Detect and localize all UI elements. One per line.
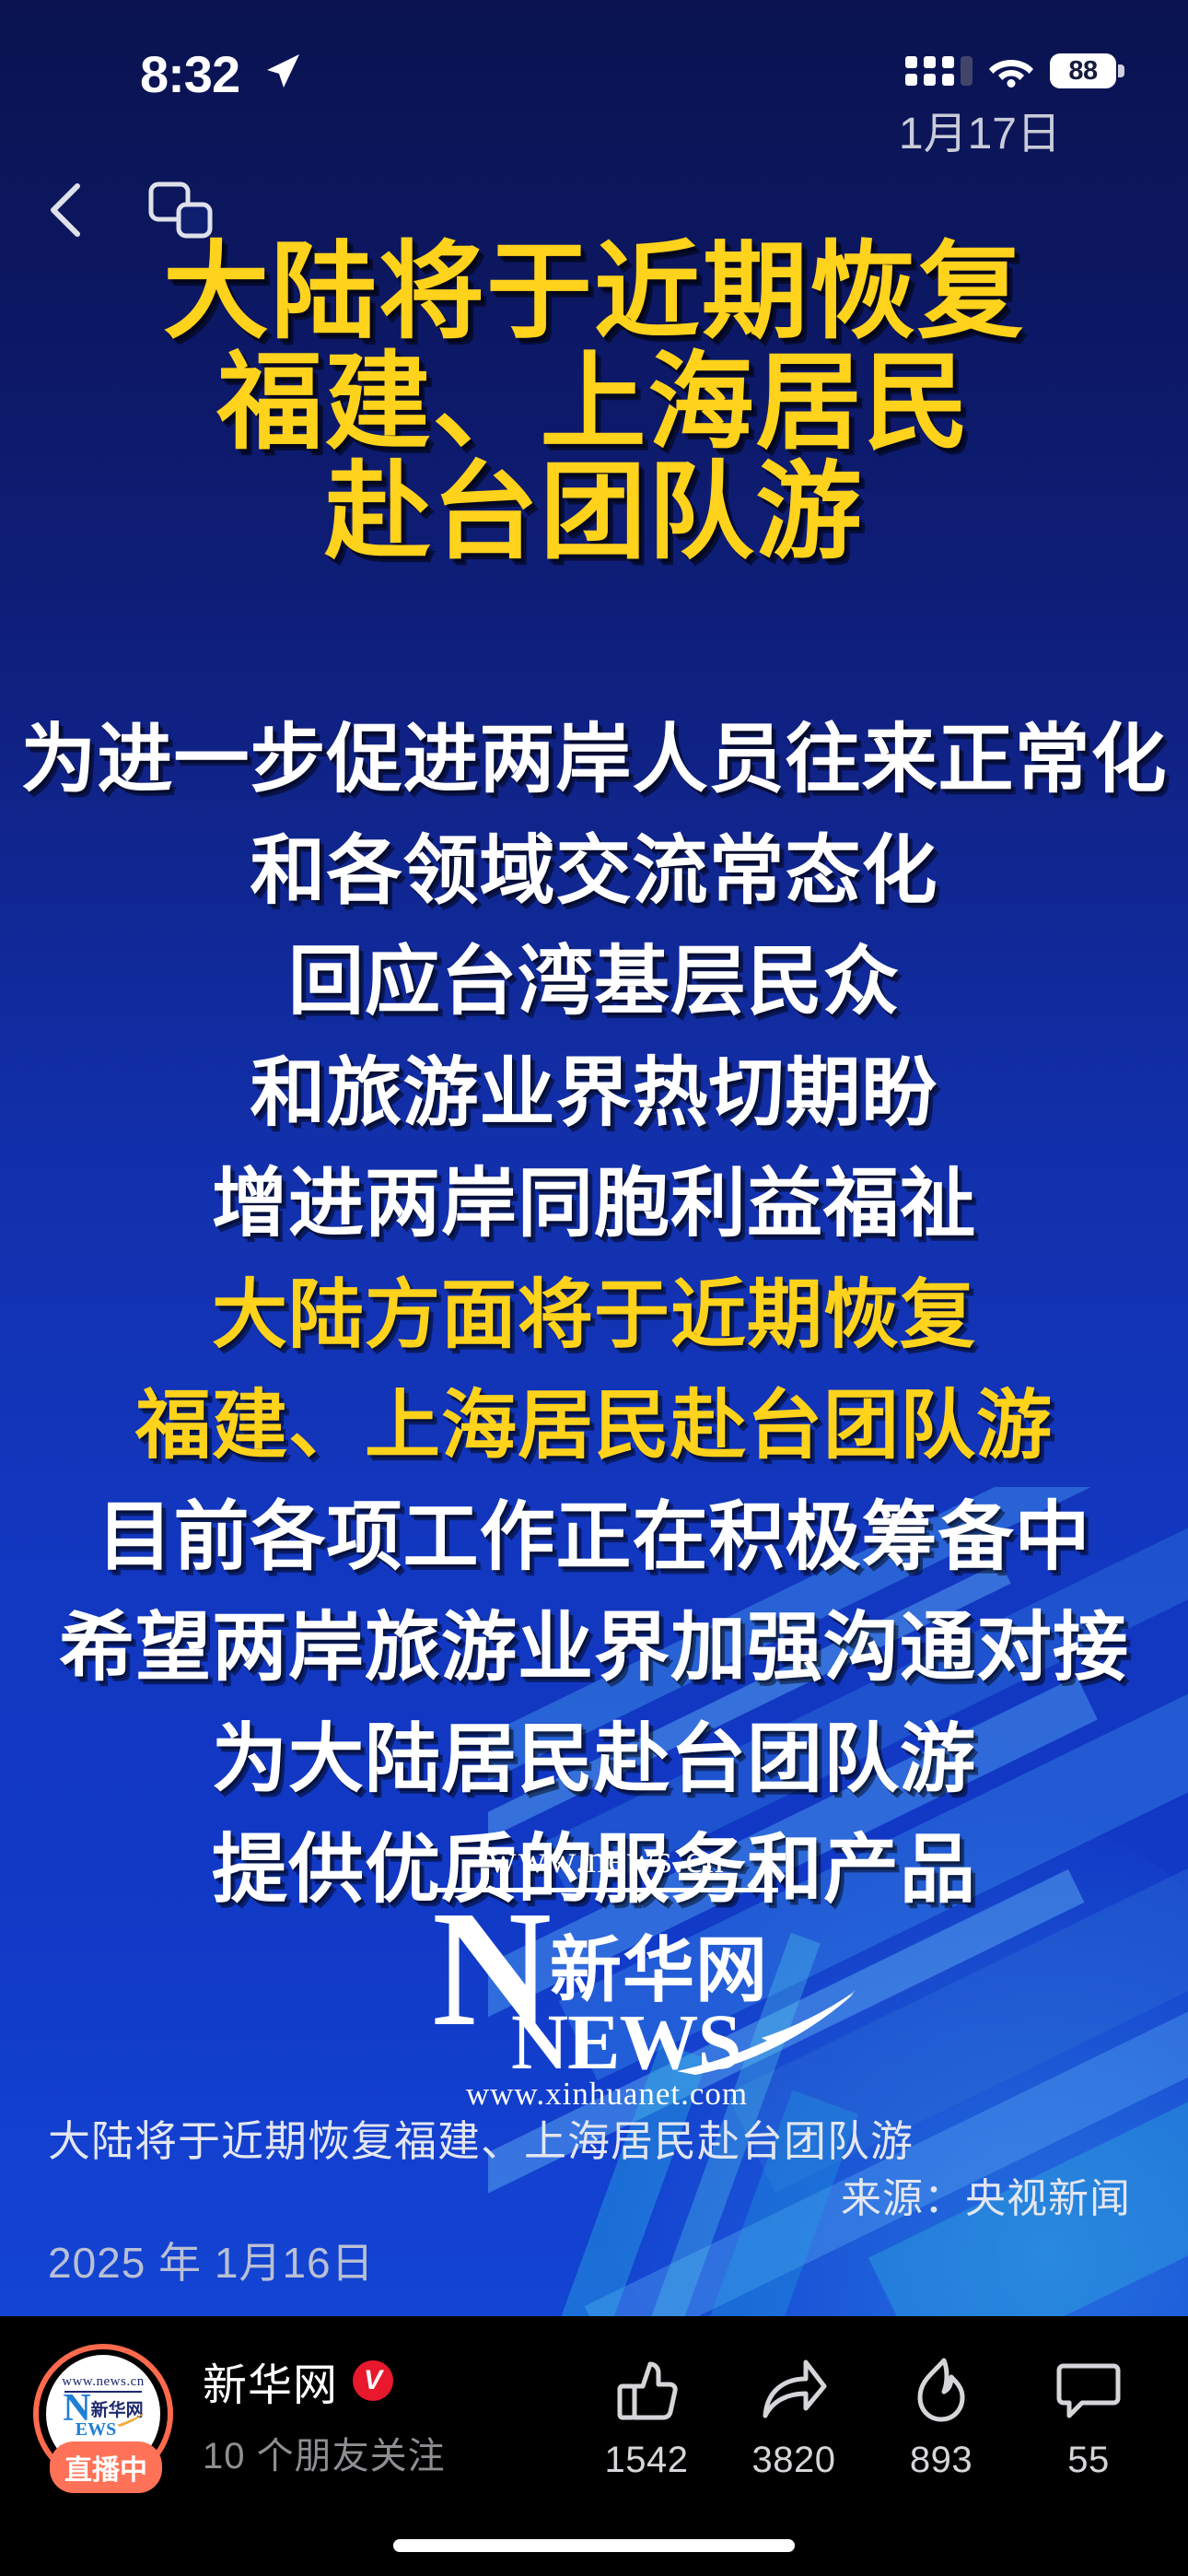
date-watermark: 1月17日	[899, 97, 1061, 161]
poster-caption-date: 2025 年 1月16日	[48, 2230, 375, 2290]
status-bar: 8:32 88 1月17日	[0, 0, 1188, 138]
poster-caption-title: 大陆将于近期恢复福建、上海居民赴台团队游	[48, 2108, 1061, 2169]
body-line: 回应台湾基层民众	[0, 927, 1188, 1038]
account-name-row: 新华网 V	[203, 2348, 446, 2413]
flame-icon	[905, 2355, 977, 2427]
avatar-letter: N	[63, 2394, 90, 2425]
status-bar-indicators: 88	[905, 53, 1116, 88]
xinhua-logo-mark: N 新华网 NEWS	[432, 1900, 778, 2070]
body-line: 福建、上海居民赴台团队游	[0, 1371, 1188, 1482]
wifi-icon	[989, 54, 1033, 88]
like-count: 1542	[605, 2440, 689, 2481]
xinhua-logo: www.news.cn N 新华网 NEWS www.xinhuanet.com	[410, 1838, 778, 2113]
body-line: 增进两岸同胞利益福祉	[0, 1149, 1188, 1260]
account-name[interactable]: 新华网	[203, 2348, 338, 2413]
body-line: 大陆方面将于近期恢复	[0, 1260, 1188, 1372]
like-button[interactable]: 1542	[573, 2355, 720, 2481]
comment-button[interactable]: 55	[1015, 2355, 1162, 2481]
battery-percent: 88	[1068, 56, 1097, 87]
share-count: 3820	[752, 2440, 836, 2481]
share-arrow-icon	[758, 2355, 830, 2427]
body-line: 为大陆居民赴台团队游	[0, 1704, 1188, 1816]
headline-line-3: 赴台团队游	[0, 458, 1188, 568]
footer-bar: www.news.cn N 新华网 EWS www.xinhuanet.com …	[0, 2316, 1188, 2576]
action-bar: 1542 3820 893 55	[573, 2355, 1162, 2481]
comment-count: 55	[1067, 2440, 1110, 2481]
home-indicator[interactable]	[393, 2539, 795, 2552]
hot-button[interactable]: 893	[868, 2355, 1015, 2481]
avatar-mark: N 新华网	[63, 2394, 143, 2425]
account-text: 新华网 V 10 个朋友关注	[203, 2348, 446, 2479]
followers-note: 10 个朋友关注	[203, 2426, 446, 2479]
body-line: 和旅游业界热切期盼	[0, 1038, 1188, 1150]
comment-bubble-icon	[1053, 2355, 1124, 2427]
location-arrow-icon	[262, 52, 301, 90]
battery-indicator: 88	[1050, 53, 1116, 88]
xinhua-logo-top-url: www.news.cn	[410, 1838, 778, 1882]
avatar[interactable]: www.news.cn N 新华网 EWS www.xinhuanet.com …	[33, 2344, 173, 2484]
headline-line-1: 大陆将于近期恢复	[0, 238, 1188, 348]
swoosh-icon	[116, 2412, 146, 2427]
multi-window-icon[interactable]	[147, 181, 215, 241]
share-button[interactable]: 3820	[720, 2355, 868, 2481]
swoosh-icon	[673, 1990, 857, 2075]
account-block[interactable]: www.news.cn N 新华网 EWS www.xinhuanet.com …	[33, 2344, 446, 2484]
poster-body: 为进一步促进两岸人员往来正常化 和各领域交流常态化 回应台湾基层民众 和旅游业界…	[0, 705, 1188, 1926]
hot-count: 893	[910, 2440, 973, 2481]
chevron-left-icon[interactable]	[44, 181, 90, 240]
poster-image[interactable]: 大陆将于近期恢复 福建、上海居民 赴台团队游 为进一步促进两岸人员往来正常化 和…	[0, 0, 1188, 2316]
cellular-signal-dots-icon	[905, 56, 973, 86]
live-badge: 直播中	[50, 2441, 162, 2493]
headline-line-2: 福建、上海居民	[0, 348, 1188, 459]
body-line: 希望两岸旅游业界加强沟通对接	[0, 1593, 1188, 1704]
poster-caption-source: 来源：央视新闻	[841, 2165, 1131, 2224]
verified-badge-icon: V	[353, 2360, 393, 2401]
body-line: 和各领域交流常态化	[0, 816, 1188, 928]
poster-headline: 大陆将于近期恢复 福建、上海居民 赴台团队游	[0, 238, 1188, 568]
body-line: 目前各项工作正在积极筹备中	[0, 1482, 1188, 1594]
status-bar-time: 8:32	[140, 44, 239, 104]
thumbs-up-icon	[611, 2355, 682, 2427]
body-line: 为进一步促进两岸人员往来正常化	[0, 705, 1188, 816]
